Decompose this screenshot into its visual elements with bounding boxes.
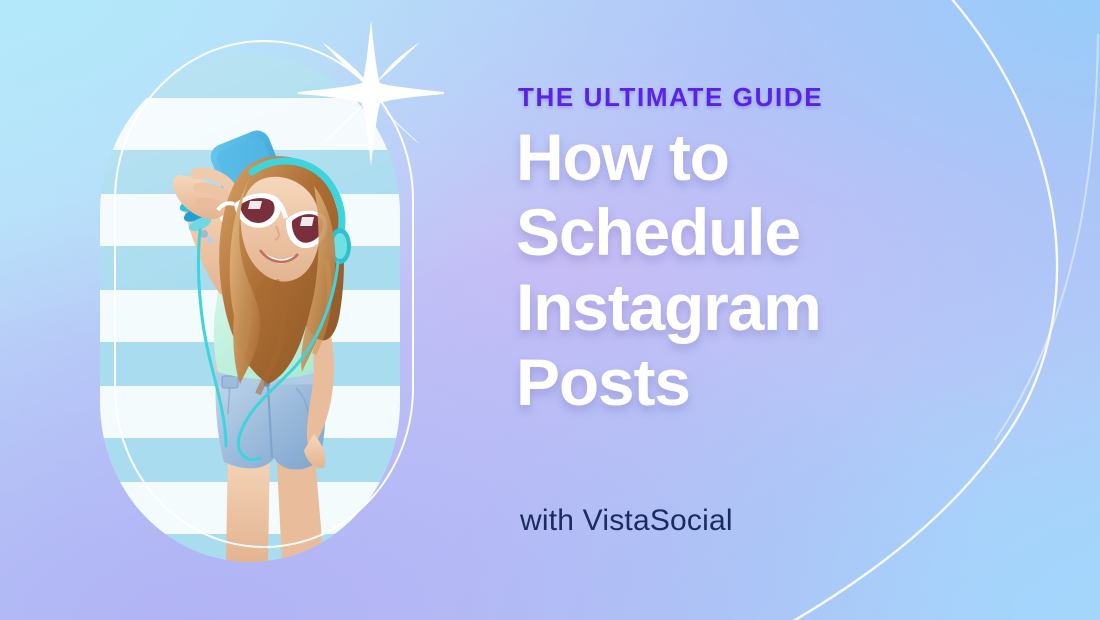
brand-subhead: with VistaSocial [520,504,733,538]
swoosh-arc-inner [995,34,1098,440]
page-title: How to Schedule Instagram Posts [516,120,936,420]
eyebrow-label: THE ULTIMATE GUIDE [518,82,823,113]
copy-block: THE ULTIMATE GUIDE How to Schedule Insta… [518,0,978,620]
sparkle-icon [296,18,446,168]
promo-banner: THE ULTIMATE GUIDE How to Schedule Insta… [0,0,1100,620]
